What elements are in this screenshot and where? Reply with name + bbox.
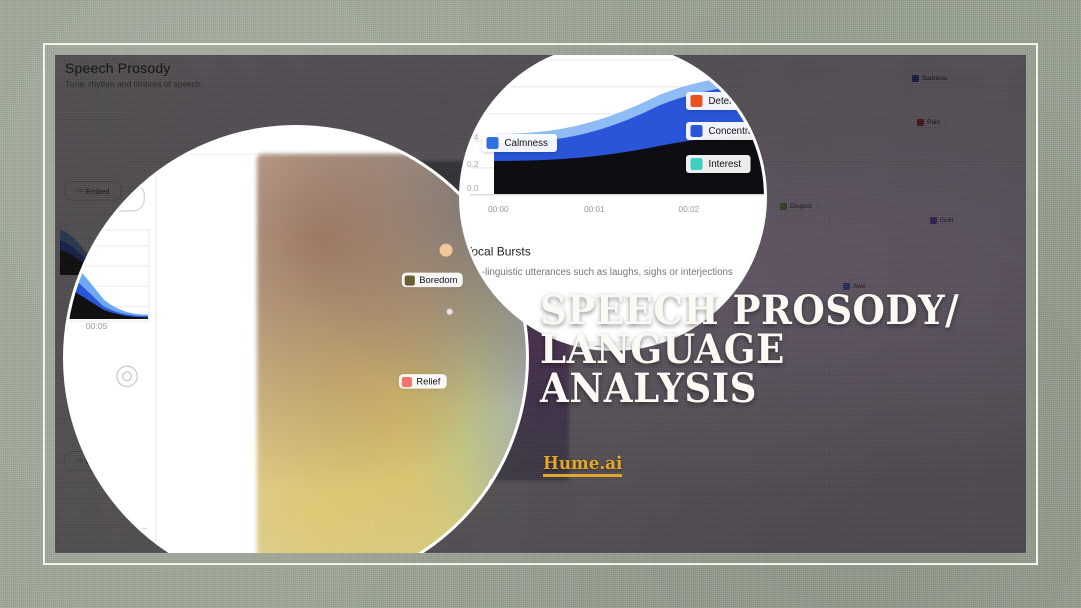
app-header: Speech Prosody Tune, rhythm and timbres … xyxy=(65,60,465,89)
tooltip-label: Concentration xyxy=(709,126,768,137)
background-chip-guilt[interactable]: Guilt xyxy=(928,215,957,225)
swatch-guilt xyxy=(930,217,937,224)
mini-chart-time-lens: 00:05 xyxy=(86,323,108,332)
swatch-boredom xyxy=(405,275,415,285)
y-tick-5: 0.0 xyxy=(467,185,478,194)
x-tick-0: 00:00 xyxy=(488,206,509,215)
embed-label: Embed xyxy=(93,191,127,204)
swatch-interest xyxy=(691,158,703,170)
emotion-chip-interest[interactable]: Interest xyxy=(489,479,529,494)
code-icon: <> xyxy=(79,192,88,202)
background-chip-label: Disgust xyxy=(790,203,812,210)
prosody-chart: 1.0 0.8 0.6 0.4 0.2 0.0 00:00 00:01 00:0… xyxy=(467,55,767,227)
vocal-bursts-title-lens: Vocal Bursts xyxy=(464,245,531,259)
emotion-chip-label: Boredom xyxy=(419,275,457,285)
swatch-relief xyxy=(402,376,412,386)
y-tick-0: 1.0 xyxy=(467,55,478,62)
emotion-chip-boredom[interactable]: Boredom xyxy=(402,273,463,288)
tooltip-interest[interactable]: Interest xyxy=(686,155,750,173)
map-point-large[interactable] xyxy=(440,244,453,257)
poster-headline: SPEECH PROSODY/ LANGUAGE ANALYSIS xyxy=(540,292,940,408)
tooltip-concentration[interactable]: Concentration xyxy=(686,122,767,140)
headline-line-2: LANGUAGE xyxy=(540,331,940,370)
headline-line-1: SPEECH PROSODY/ xyxy=(540,292,940,331)
background-chip-disgust[interactable]: Disgust xyxy=(778,201,816,211)
tooltip-label: Calmness xyxy=(505,138,548,149)
headline-line-3: ANALYSIS xyxy=(540,370,940,409)
swatch-concentration xyxy=(691,125,703,137)
x-tick-1: 00:01 xyxy=(584,206,605,215)
swatch-sadness xyxy=(912,75,919,82)
page-subtitle: Tune, rhythm and timbres of speech xyxy=(65,79,465,89)
swatch-interest xyxy=(492,481,502,491)
tooltip-determination[interactable]: Determination xyxy=(686,92,767,110)
swatch-determination xyxy=(691,95,703,107)
mini-chart-lens xyxy=(63,229,149,322)
brand-link[interactable]: Hume.ai xyxy=(543,455,622,477)
y-tick-1: 0.8 xyxy=(467,80,478,89)
swatch-calmness xyxy=(487,137,499,149)
map-point-small[interactable] xyxy=(445,307,454,316)
target-icon[interactable] xyxy=(116,365,138,387)
background-chip-sadness[interactable]: Sadness xyxy=(910,73,951,83)
emotion-chip-label: Interest xyxy=(506,481,529,491)
swatch-pain xyxy=(917,119,924,126)
tooltip-calmness[interactable]: Calmness xyxy=(482,134,557,152)
tooltip-label: Determination xyxy=(709,96,768,107)
emotion-chip-relief[interactable]: Relief xyxy=(399,374,446,389)
emotion-chip-label: Relief xyxy=(416,376,440,386)
y-tick-2: 0.6 xyxy=(467,107,478,116)
vocal-bursts-subtitle-lens: Non-linguistic utterances such as laughs… xyxy=(464,268,733,279)
poster-canvas: Speech Prosody Tune, rhythm and timbres … xyxy=(0,0,1081,608)
background-chip-label: Pain xyxy=(927,119,940,126)
background-chip-label: Guilt xyxy=(940,217,953,224)
swatch-disgust xyxy=(780,203,787,210)
divider xyxy=(61,119,123,120)
tooltip-label: Interest xyxy=(709,159,742,170)
x-tick-2: 00:02 xyxy=(679,206,700,215)
background-chip-pain[interactable]: Pain xyxy=(915,117,944,127)
mini-chart-time-lens-2: 00:08 xyxy=(86,537,108,546)
background-chip-label: Sadness xyxy=(922,75,947,82)
y-tick-4: 0.2 xyxy=(467,161,478,170)
y-tick-3: 0.4 xyxy=(467,134,478,143)
embed-button-lens[interactable]: <> Embed xyxy=(63,183,145,212)
page-title: Speech Prosody xyxy=(65,60,465,76)
